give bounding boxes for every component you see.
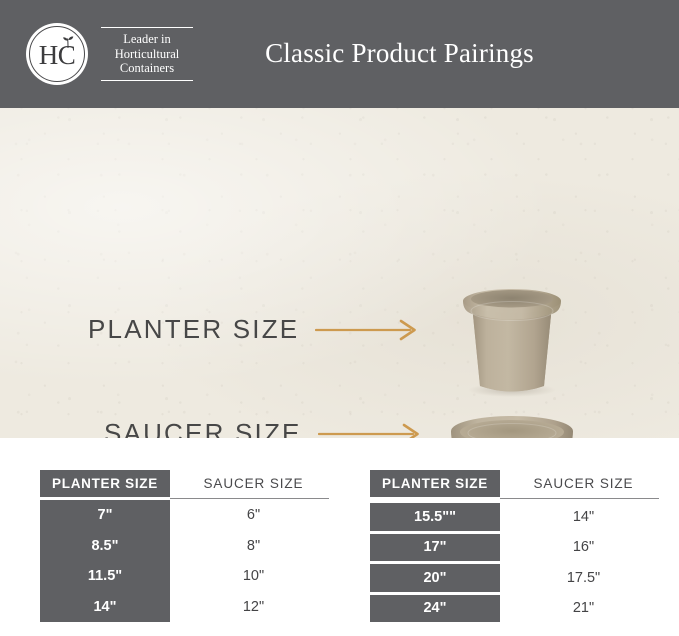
page-header: HC Leader in Horticultural Containers Cl… bbox=[0, 0, 679, 108]
table-row: 20" 17.5" bbox=[370, 561, 667, 592]
column-header-saucer: SAUCER SIZE bbox=[500, 470, 667, 497]
cell-saucer-size: 12" bbox=[170, 592, 337, 623]
hero-section: PLANTER SIZE SAUCER SIZE bbox=[0, 108, 679, 438]
cell-planter-size: 24" bbox=[370, 595, 500, 623]
product-pairing-infographic: HC Leader in Horticultural Containers Cl… bbox=[0, 0, 679, 636]
cell-planter-size: 8.5" bbox=[40, 531, 170, 562]
table-header-row: PLANTER SIZE SAUCER SIZE bbox=[370, 470, 667, 497]
planter-pot-image bbox=[442, 278, 582, 400]
cell-planter-size: 17" bbox=[370, 534, 500, 562]
cell-planter-size: 11.5" bbox=[40, 561, 170, 592]
size-table-large: PLANTER SIZE SAUCER SIZE 15.5"" 14" 17" … bbox=[370, 470, 667, 622]
callout-planter-size: PLANTER SIZE bbox=[88, 314, 422, 345]
cell-planter-size: 20" bbox=[370, 564, 500, 592]
size-pairing-tables: PLANTER SIZE SAUCER SIZE 7" 6" 8.5" 8" 1… bbox=[0, 470, 679, 622]
saucer-dish-image bbox=[442, 413, 582, 438]
callout-saucer-size: SAUCER SIZE bbox=[104, 418, 425, 438]
cell-saucer-size: 16" bbox=[500, 534, 667, 562]
cell-saucer-size: 21" bbox=[500, 595, 667, 623]
cell-saucer-size: 10" bbox=[170, 561, 337, 592]
column-header-planter: PLANTER SIZE bbox=[40, 470, 170, 497]
table-body: 7" 6" 8.5" 8" 11.5" 10" 14" 12" bbox=[40, 500, 337, 622]
cell-saucer-size: 17.5" bbox=[500, 564, 667, 592]
table-row: 11.5" 10" bbox=[40, 561, 337, 592]
arrow-right-icon bbox=[318, 423, 425, 439]
table-row: 17" 16" bbox=[370, 531, 667, 562]
table-row: 15.5"" 14" bbox=[370, 500, 667, 531]
cell-saucer-size: 6" bbox=[170, 500, 337, 531]
table-body: 15.5"" 14" 17" 16" 20" 17.5" 24" 21" bbox=[370, 500, 667, 622]
arrow-right-icon bbox=[315, 319, 422, 341]
cell-planter-size: 15.5"" bbox=[370, 503, 500, 531]
table-header-row: PLANTER SIZE SAUCER SIZE bbox=[40, 470, 337, 497]
cell-planter-size: 7" bbox=[40, 500, 170, 531]
cell-planter-size: 14" bbox=[40, 592, 170, 623]
cell-saucer-size: 14" bbox=[500, 503, 667, 531]
column-header-planter: PLANTER SIZE bbox=[370, 470, 500, 497]
table-row: 24" 21" bbox=[370, 592, 667, 623]
page-title: Classic Product Pairings bbox=[0, 38, 679, 69]
callout-saucer-label: SAUCER SIZE bbox=[104, 418, 302, 438]
table-row: 8.5" 8" bbox=[40, 531, 337, 562]
column-header-saucer: SAUCER SIZE bbox=[170, 470, 337, 497]
cell-saucer-size: 8" bbox=[170, 531, 337, 562]
callout-planter-label: PLANTER SIZE bbox=[88, 314, 299, 345]
size-table-small: PLANTER SIZE SAUCER SIZE 7" 6" 8.5" 8" 1… bbox=[40, 470, 337, 622]
leaf-sprout-icon bbox=[60, 35, 76, 49]
table-row: 14" 12" bbox=[40, 592, 337, 623]
table-row: 7" 6" bbox=[40, 500, 337, 531]
